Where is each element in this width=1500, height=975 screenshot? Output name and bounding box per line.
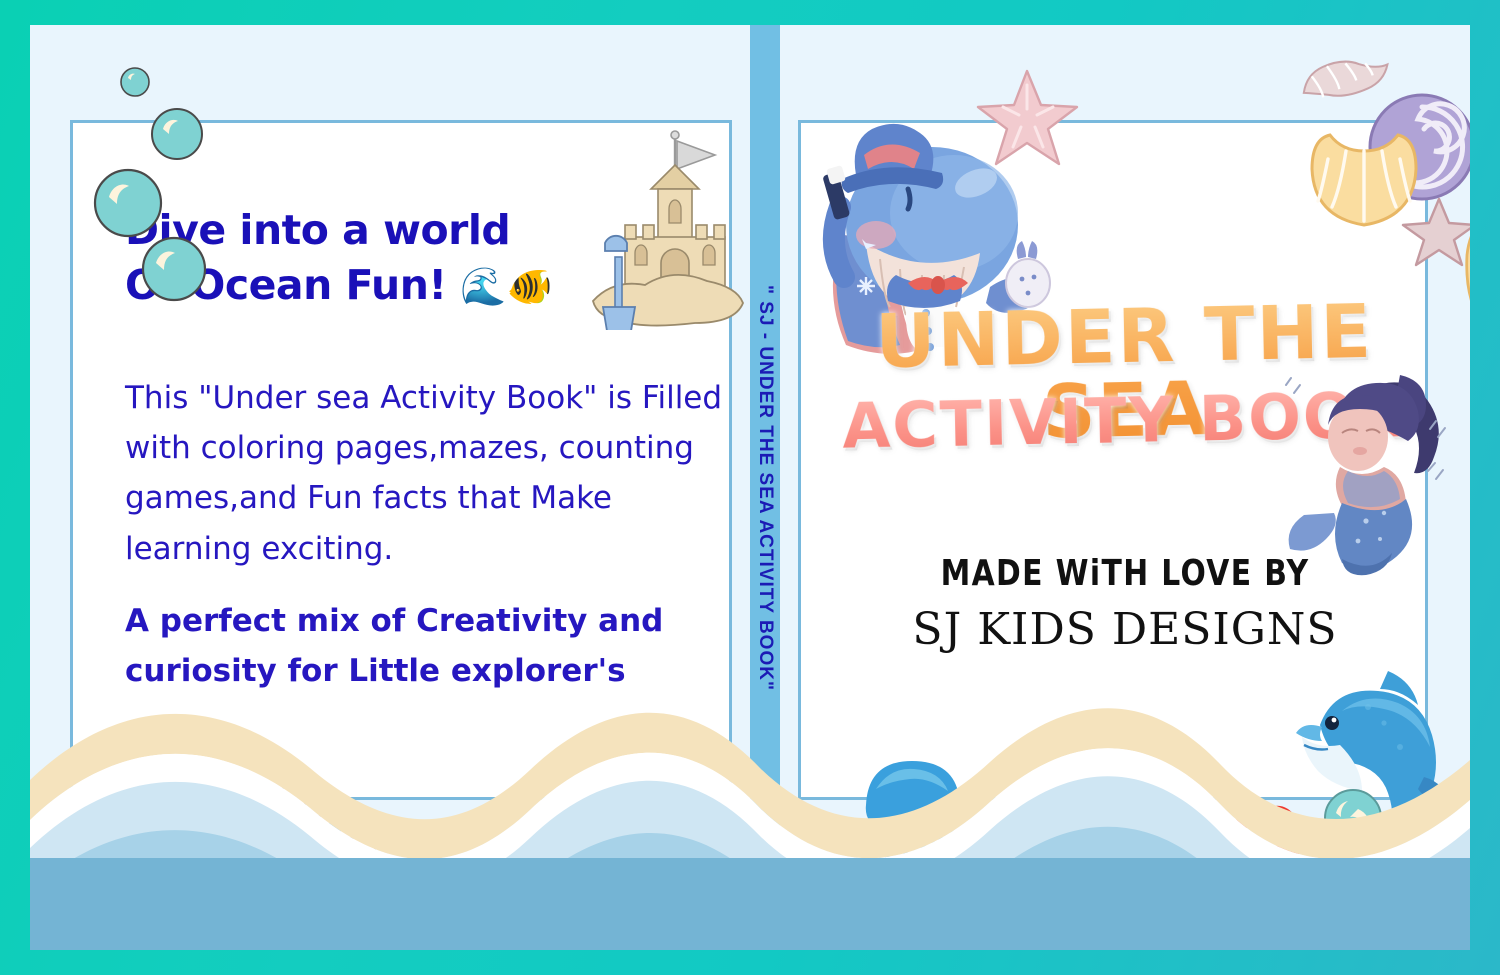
credit-line-1: MADE WiTH LOVE BY (808, 553, 1443, 594)
blurb-paragraph-1: This "Under sea Activity Book" is Filled… (125, 380, 722, 567)
back-cover-blurb: This "Under sea Activity Book" is Filled… (125, 373, 725, 696)
spine-title: " SJ - UNDER THE SEA ACTIVITY BOOK" (754, 285, 776, 691)
headline-line-2-row: Of Ocean Fun! 🌊🐠 (125, 258, 595, 313)
headline-line-1: Dive into a world (125, 203, 595, 258)
front-cover-title-block: UNDER THE SEA UNDER THE SEA UNDER THE SE… (780, 300, 1470, 466)
title-line-2: ACTIVITY BOOK (779, 383, 1470, 459)
sea-band (30, 858, 1470, 950)
tropical-fish-icon: 🐠 (506, 265, 552, 308)
title-line-1-wrap: UNDER THE SEA UNDER THE SEA UNDER THE SE… (780, 300, 1470, 378)
bubble-icon (118, 65, 152, 99)
headline-line-2: Of Ocean Fun! (125, 261, 447, 309)
cover-sheet: Dive into a world Of Ocean Fun! 🌊🐠 This … (30, 25, 1470, 950)
back-cover-headline: Dive into a world Of Ocean Fun! 🌊🐠 (125, 203, 595, 312)
front-cover-credit: MADE WiTH LOVE BY SJ KIDS DESIGNS (780, 553, 1470, 655)
wave-icon: 🌊 (460, 265, 506, 308)
title-line-2-wrap: ACTIVITY BOOK ACTIVITY BOOK ACTIVITY BOO… (780, 390, 1470, 466)
conical-shell-icon (1292, 35, 1397, 115)
credit-line-2: SJ KIDS DESIGNS (780, 604, 1470, 655)
